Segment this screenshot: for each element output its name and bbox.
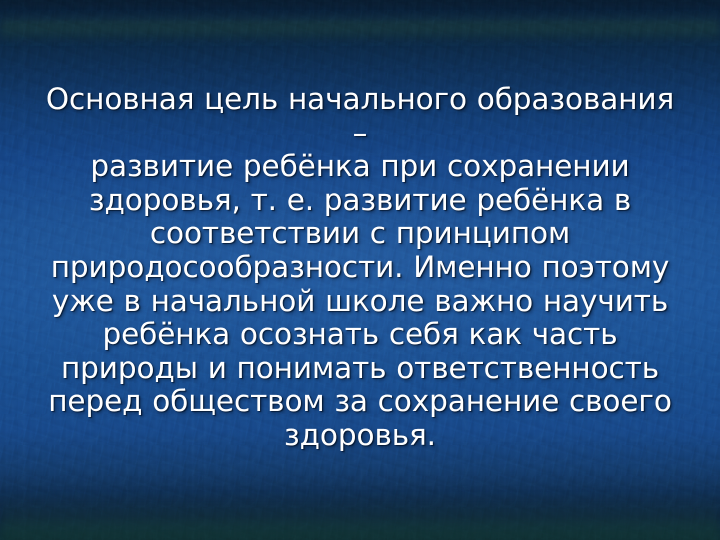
background-haze-bottom [0,496,720,540]
slide-body-text: Основная цель начального образования –ра… [36,83,684,453]
presentation-slide: Основная цель начального образования –ра… [0,0,720,540]
